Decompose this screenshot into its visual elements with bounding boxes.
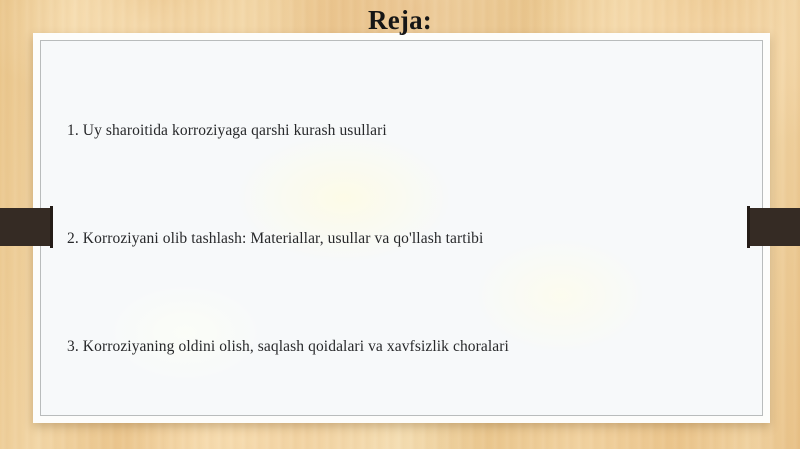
list-item: 3. Korroziyaning oldini olish, saqlash q… [67,337,738,358]
list-item: 2. Korroziyani olib tashlash: Materialla… [67,229,738,250]
slide-title: Reja: [0,6,800,34]
slide-canvas: 1. Uy sharoitida korroziyaga qarshi kura… [0,0,800,449]
agenda-list: 1. Uy sharoitida korroziyaga qarshi kura… [67,121,738,358]
content-card: 1. Uy sharoitida korroziyaga qarshi kura… [33,33,770,423]
left-edge-bar [0,208,53,246]
list-item: 1. Uy sharoitida korroziyaga qarshi kura… [67,121,738,142]
content-card-inner-panel: 1. Uy sharoitida korroziyaga qarshi kura… [40,40,763,416]
right-edge-bar [747,208,800,246]
